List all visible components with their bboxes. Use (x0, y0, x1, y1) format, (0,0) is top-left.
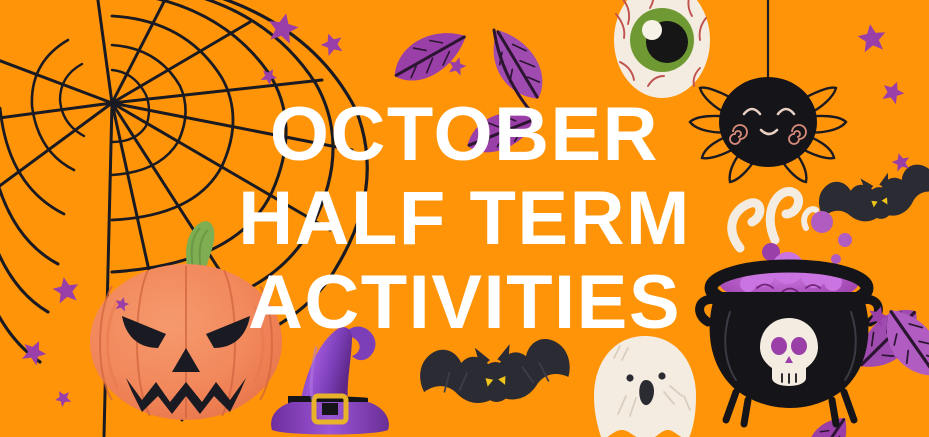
halloween-banner: OCTOBER HALF TERM ACTIVITIES (0, 0, 929, 437)
headline-line-1: OCTOBER (270, 93, 659, 177)
headline-line-2: HALF TERM (238, 177, 691, 261)
headline-block: OCTOBER HALF TERM ACTIVITIES (0, 0, 929, 437)
headline-line-3: ACTIVITIES (248, 261, 681, 345)
